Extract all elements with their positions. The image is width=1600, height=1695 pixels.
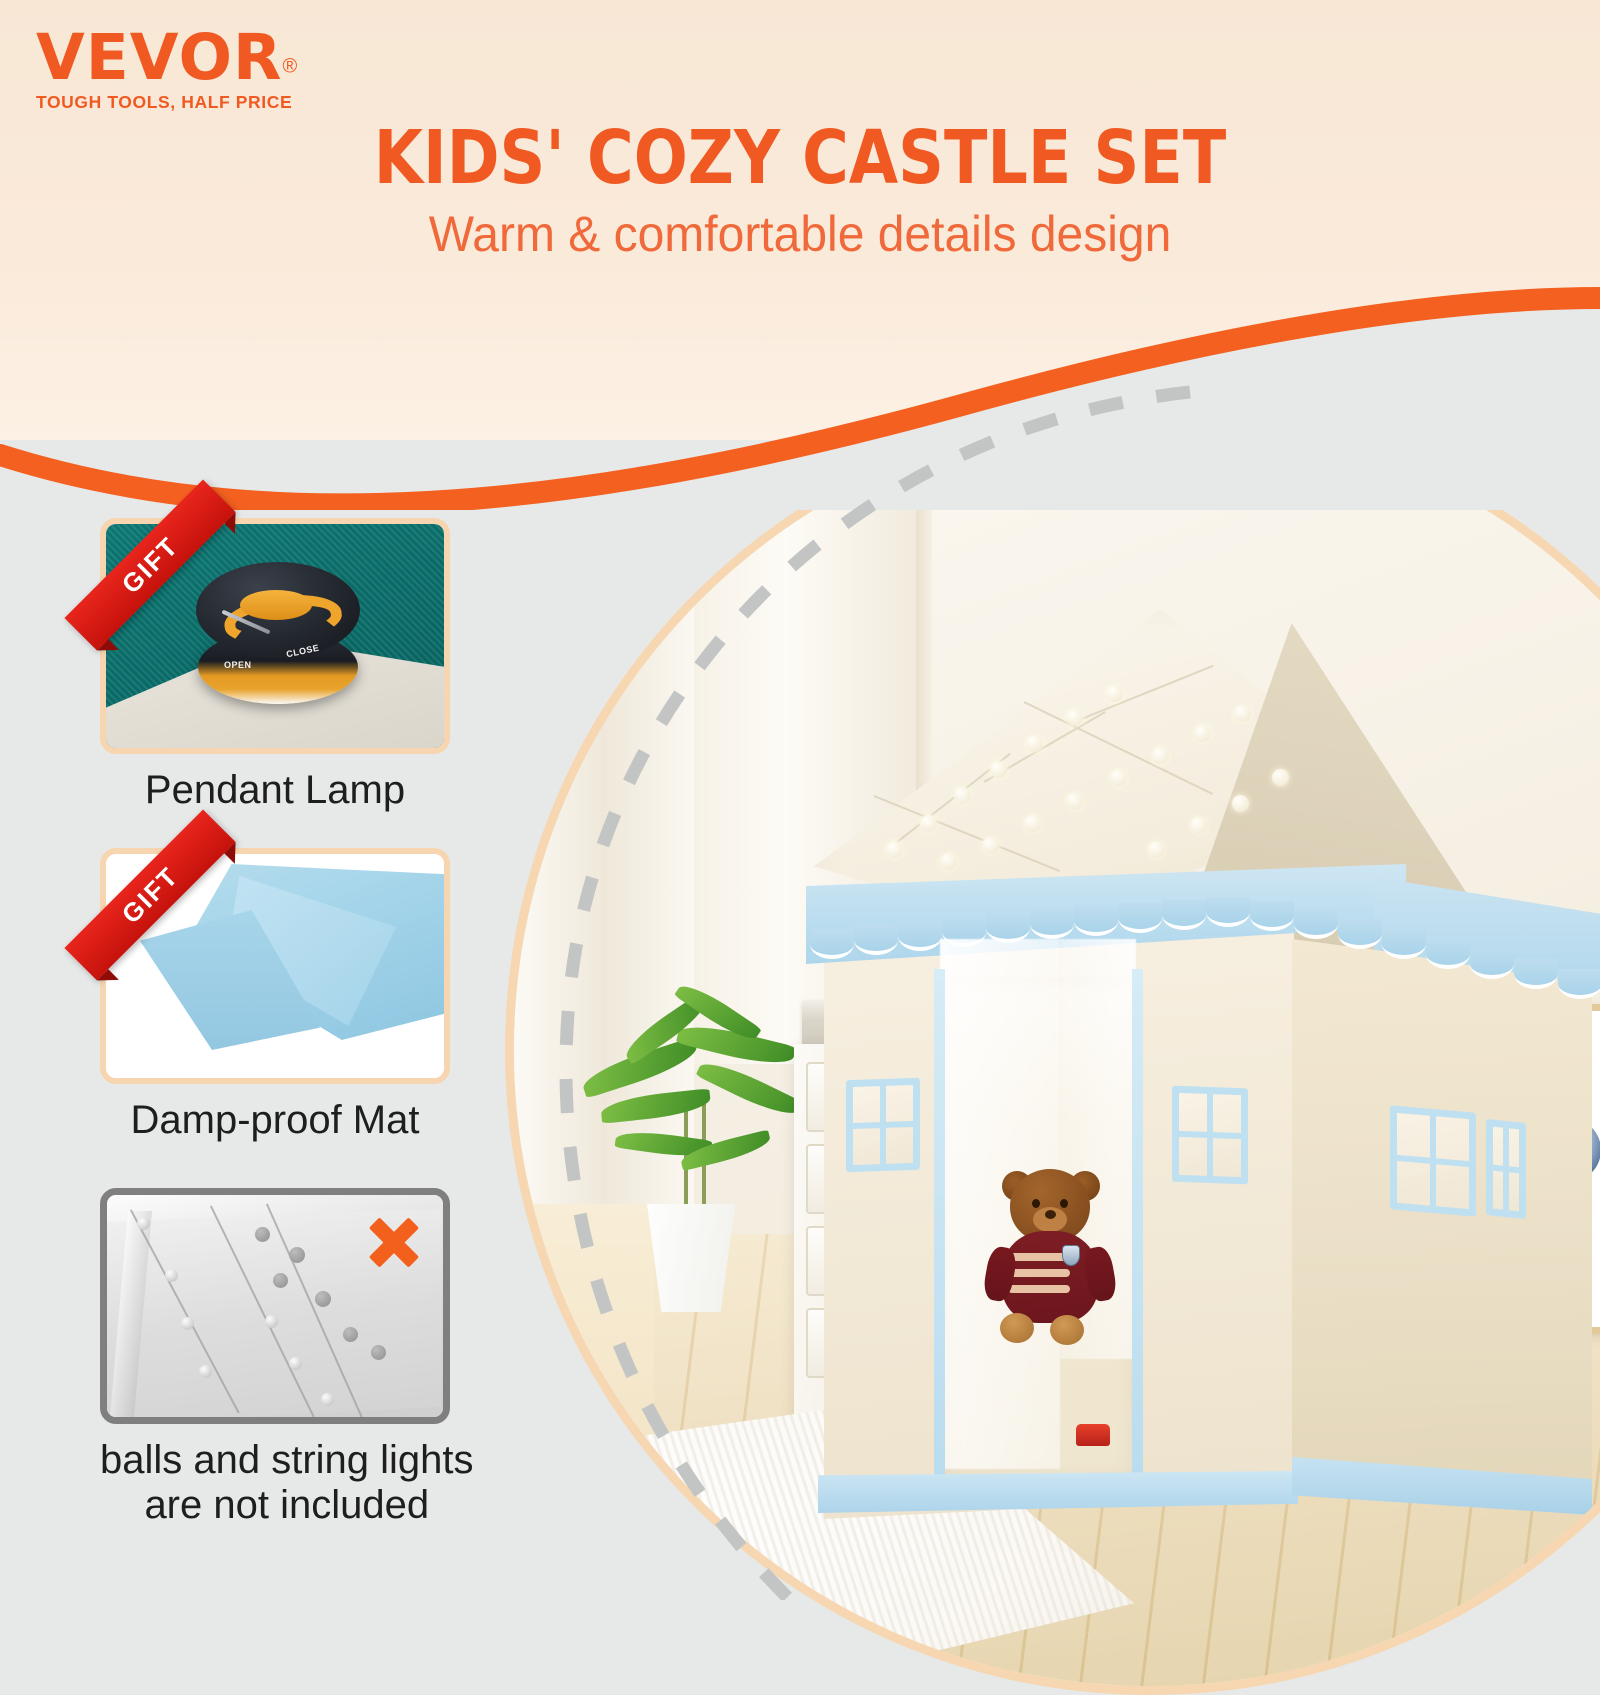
brand-logo: VEVOR® TOUGH TOOLS, HALF PRICE: [36, 26, 297, 113]
door-edge-left: [934, 969, 945, 1489]
led-lantern-icon: OPEN CLOSE: [182, 558, 372, 708]
feature-card-label: Pendant Lamp: [100, 768, 450, 813]
castle-play-tent: [814, 609, 1600, 1539]
feature-card-label-line1: balls and string lights: [100, 1438, 474, 1483]
door-edge-right: [1132, 969, 1143, 1489]
page-subtitle: Warm & comfortable details design: [32, 207, 1568, 262]
tent-wall-side: [1292, 939, 1592, 1499]
teddy-bear: [984, 1169, 1114, 1359]
title-block: KIDS' COZY CASTLE SET Warm & comfortable…: [0, 120, 1600, 262]
not-included-x-icon: [365, 1213, 423, 1271]
lamp-open-label: OPEN: [224, 660, 252, 670]
page-title: KIDS' COZY CASTLE SET: [112, 120, 1488, 197]
brand-name: VEVOR: [36, 26, 283, 89]
tent-base-trim-front: [818, 1471, 1298, 1513]
feature-card-label: Damp-proof Mat: [100, 1098, 450, 1143]
tent-window-side-a: [1390, 1105, 1476, 1217]
feature-card-label-line2: are not included: [100, 1483, 474, 1528]
feature-card-damp-proof-mat[interactable]: GIFT Damp-proof Mat: [100, 848, 450, 1143]
registered-mark-icon: ®: [283, 56, 298, 78]
tent-window-side-b: [1486, 1119, 1526, 1219]
rubiks-cube-toy: [542, 1592, 584, 1632]
product-photo: [505, 405, 1600, 1695]
brand-tagline: TOUGH TOOLS, HALF PRICE: [36, 92, 297, 113]
tent-window-front-left: [846, 1078, 920, 1173]
red-toy-car: [1076, 1424, 1110, 1446]
tent-window-front-right: [1172, 1086, 1248, 1185]
feature-card-not-included[interactable]: balls and string lights are not included: [100, 1188, 474, 1528]
feature-card-pendant-lamp[interactable]: OPEN CLOSE GIFT Pendant Lamp: [100, 518, 450, 813]
playroom-scene: [505, 405, 1600, 1695]
